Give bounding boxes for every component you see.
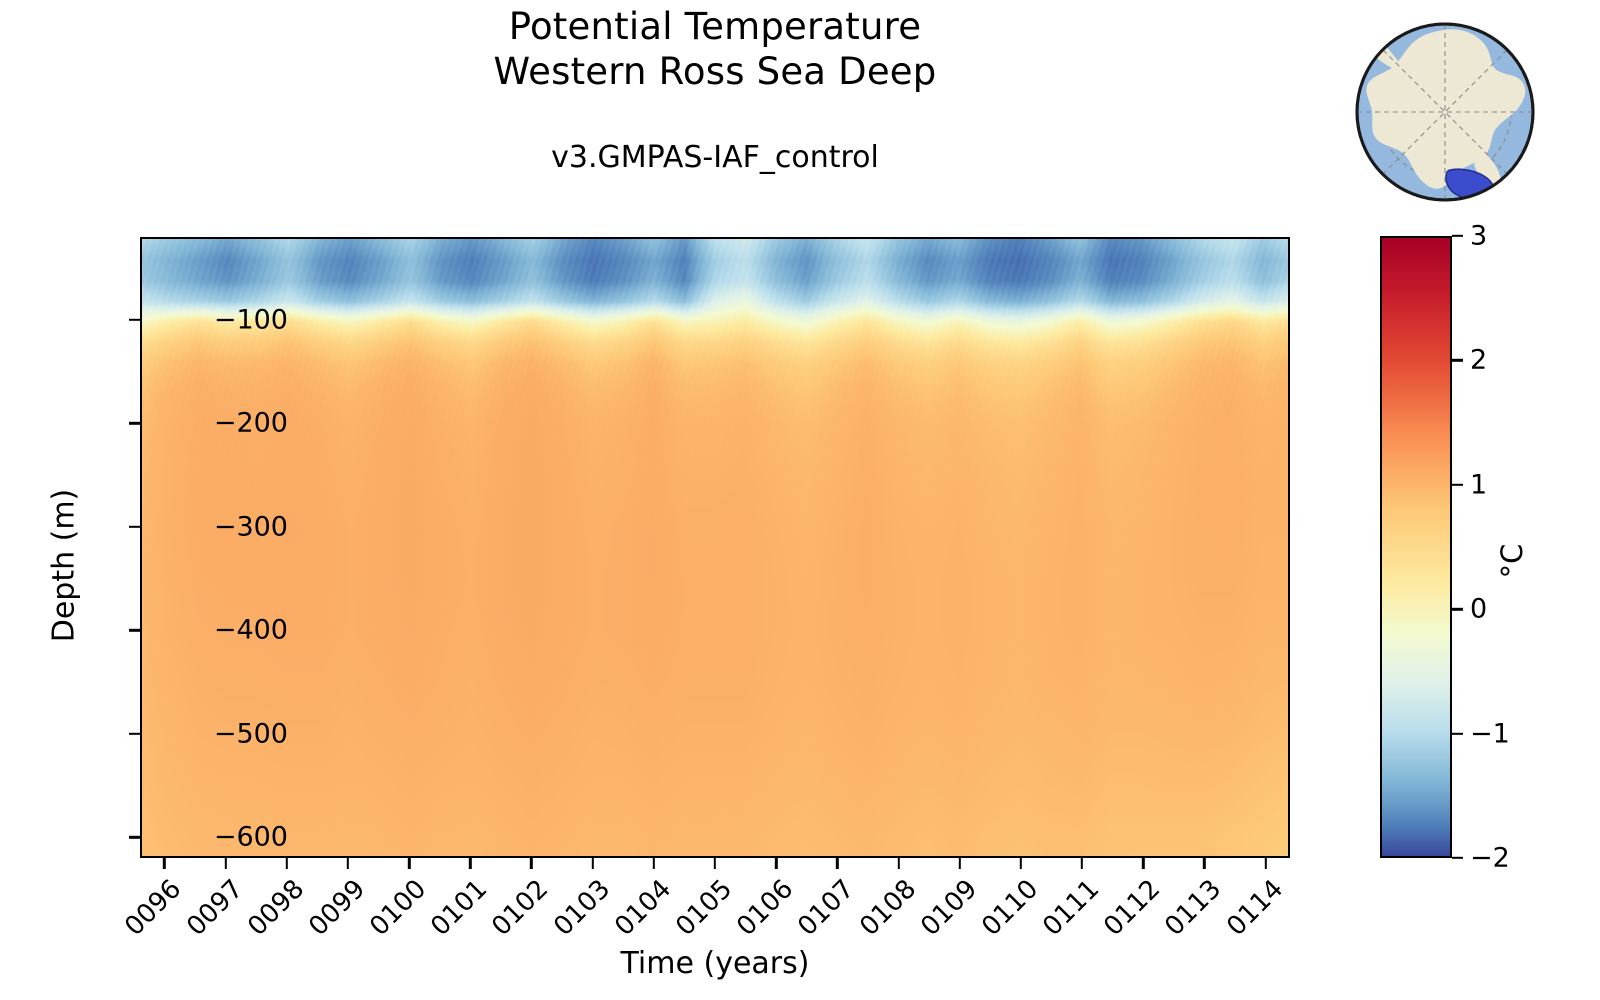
y-tick-mark: [129, 733, 140, 735]
x-tick-mark: [408, 858, 410, 869]
x-tick-mark: [286, 858, 288, 869]
x-tick-mark: [714, 858, 716, 869]
figure-subtitle: v3.GMPAS-IAF_control: [140, 140, 1290, 176]
x-tick-label: 0114: [1212, 874, 1288, 950]
x-tick-mark: [897, 858, 899, 869]
colorbar-tick-label: 2: [1470, 347, 1487, 374]
y-tick-mark: [129, 422, 140, 424]
y-tick-label: −500: [168, 720, 288, 747]
x-tick-mark: [1020, 858, 1022, 869]
colorbar-gradient: [1382, 238, 1450, 856]
x-tick-label: 0105: [662, 874, 738, 950]
y-tick-mark: [129, 836, 140, 838]
x-tick-label: 0098: [234, 874, 310, 950]
x-tick-label: 0099: [295, 874, 371, 950]
y-tick-mark: [129, 629, 140, 631]
y-tick-label: −100: [168, 306, 288, 333]
x-tick-label: 0106: [723, 874, 799, 950]
colorbar-tick-mark: [1452, 608, 1463, 610]
y-tick-label: −400: [168, 617, 288, 644]
colorbar-tick-mark: [1452, 857, 1463, 859]
temperature-heatmap: [142, 239, 1288, 856]
colorbar-tick-label: 3: [1470, 223, 1487, 250]
title-line-1: Potential Temperature: [140, 4, 1290, 49]
colorbar: [1380, 236, 1452, 858]
colorbar-tick-mark: [1452, 359, 1463, 361]
x-tick-label: 0108: [845, 874, 921, 950]
colorbar-tick-label: 0: [1470, 596, 1487, 623]
x-tick-label: 0107: [784, 874, 860, 950]
x-tick-label: 0096: [111, 874, 187, 950]
x-tick-label: 0104: [601, 874, 677, 950]
x-tick-mark: [530, 858, 532, 869]
x-tick-mark: [591, 858, 593, 869]
antarctica-locator-map: [1350, 12, 1540, 212]
heatmap-plot-area: [140, 237, 1290, 858]
colorbar-tick-label: −1: [1470, 720, 1510, 747]
x-tick-mark: [163, 858, 165, 869]
x-axis-label: Time (years): [140, 946, 1290, 981]
y-tick-mark: [129, 319, 140, 321]
y-tick-label: −300: [168, 513, 288, 540]
colorbar-tick-label: −2: [1470, 845, 1510, 872]
x-tick-mark: [775, 858, 777, 869]
y-axis-label: Depth (m): [47, 416, 82, 716]
colorbar-tick-mark: [1452, 235, 1463, 237]
y-tick-label: −200: [168, 410, 288, 437]
colorbar-label: °C: [1495, 481, 1529, 641]
x-tick-mark: [958, 858, 960, 869]
x-tick-mark: [1081, 858, 1083, 869]
figure-root: Potential Temperature Western Ross Sea D…: [0, 0, 1600, 1000]
colorbar-tick-label: 1: [1470, 471, 1487, 498]
y-tick-label: −600: [168, 824, 288, 851]
colorbar-tick-mark: [1452, 484, 1463, 486]
title-line-2: Western Ross Sea Deep: [140, 49, 1290, 94]
figure-title: Potential Temperature Western Ross Sea D…: [140, 4, 1290, 94]
x-tick-mark: [1264, 858, 1266, 869]
x-tick-label: 0097: [172, 874, 248, 950]
x-tick-label: 0110: [968, 874, 1044, 950]
x-tick-label: 0100: [356, 874, 432, 950]
x-tick-label: 0103: [540, 874, 616, 950]
x-tick-mark: [224, 858, 226, 869]
x-tick-label: 0101: [417, 874, 493, 950]
x-tick-mark: [653, 858, 655, 869]
x-tick-mark: [347, 858, 349, 869]
x-tick-label: 0111: [1029, 874, 1105, 950]
x-tick-mark: [836, 858, 838, 869]
x-tick-mark: [469, 858, 471, 869]
x-tick-label: 0113: [1151, 874, 1227, 950]
x-tick-mark: [1142, 858, 1144, 869]
x-tick-label: 0109: [907, 874, 983, 950]
x-tick-label: 0112: [1090, 874, 1166, 950]
colorbar-tick-mark: [1452, 732, 1463, 734]
x-tick-label: 0102: [478, 874, 554, 950]
x-tick-mark: [1203, 858, 1205, 869]
y-tick-mark: [129, 526, 140, 528]
